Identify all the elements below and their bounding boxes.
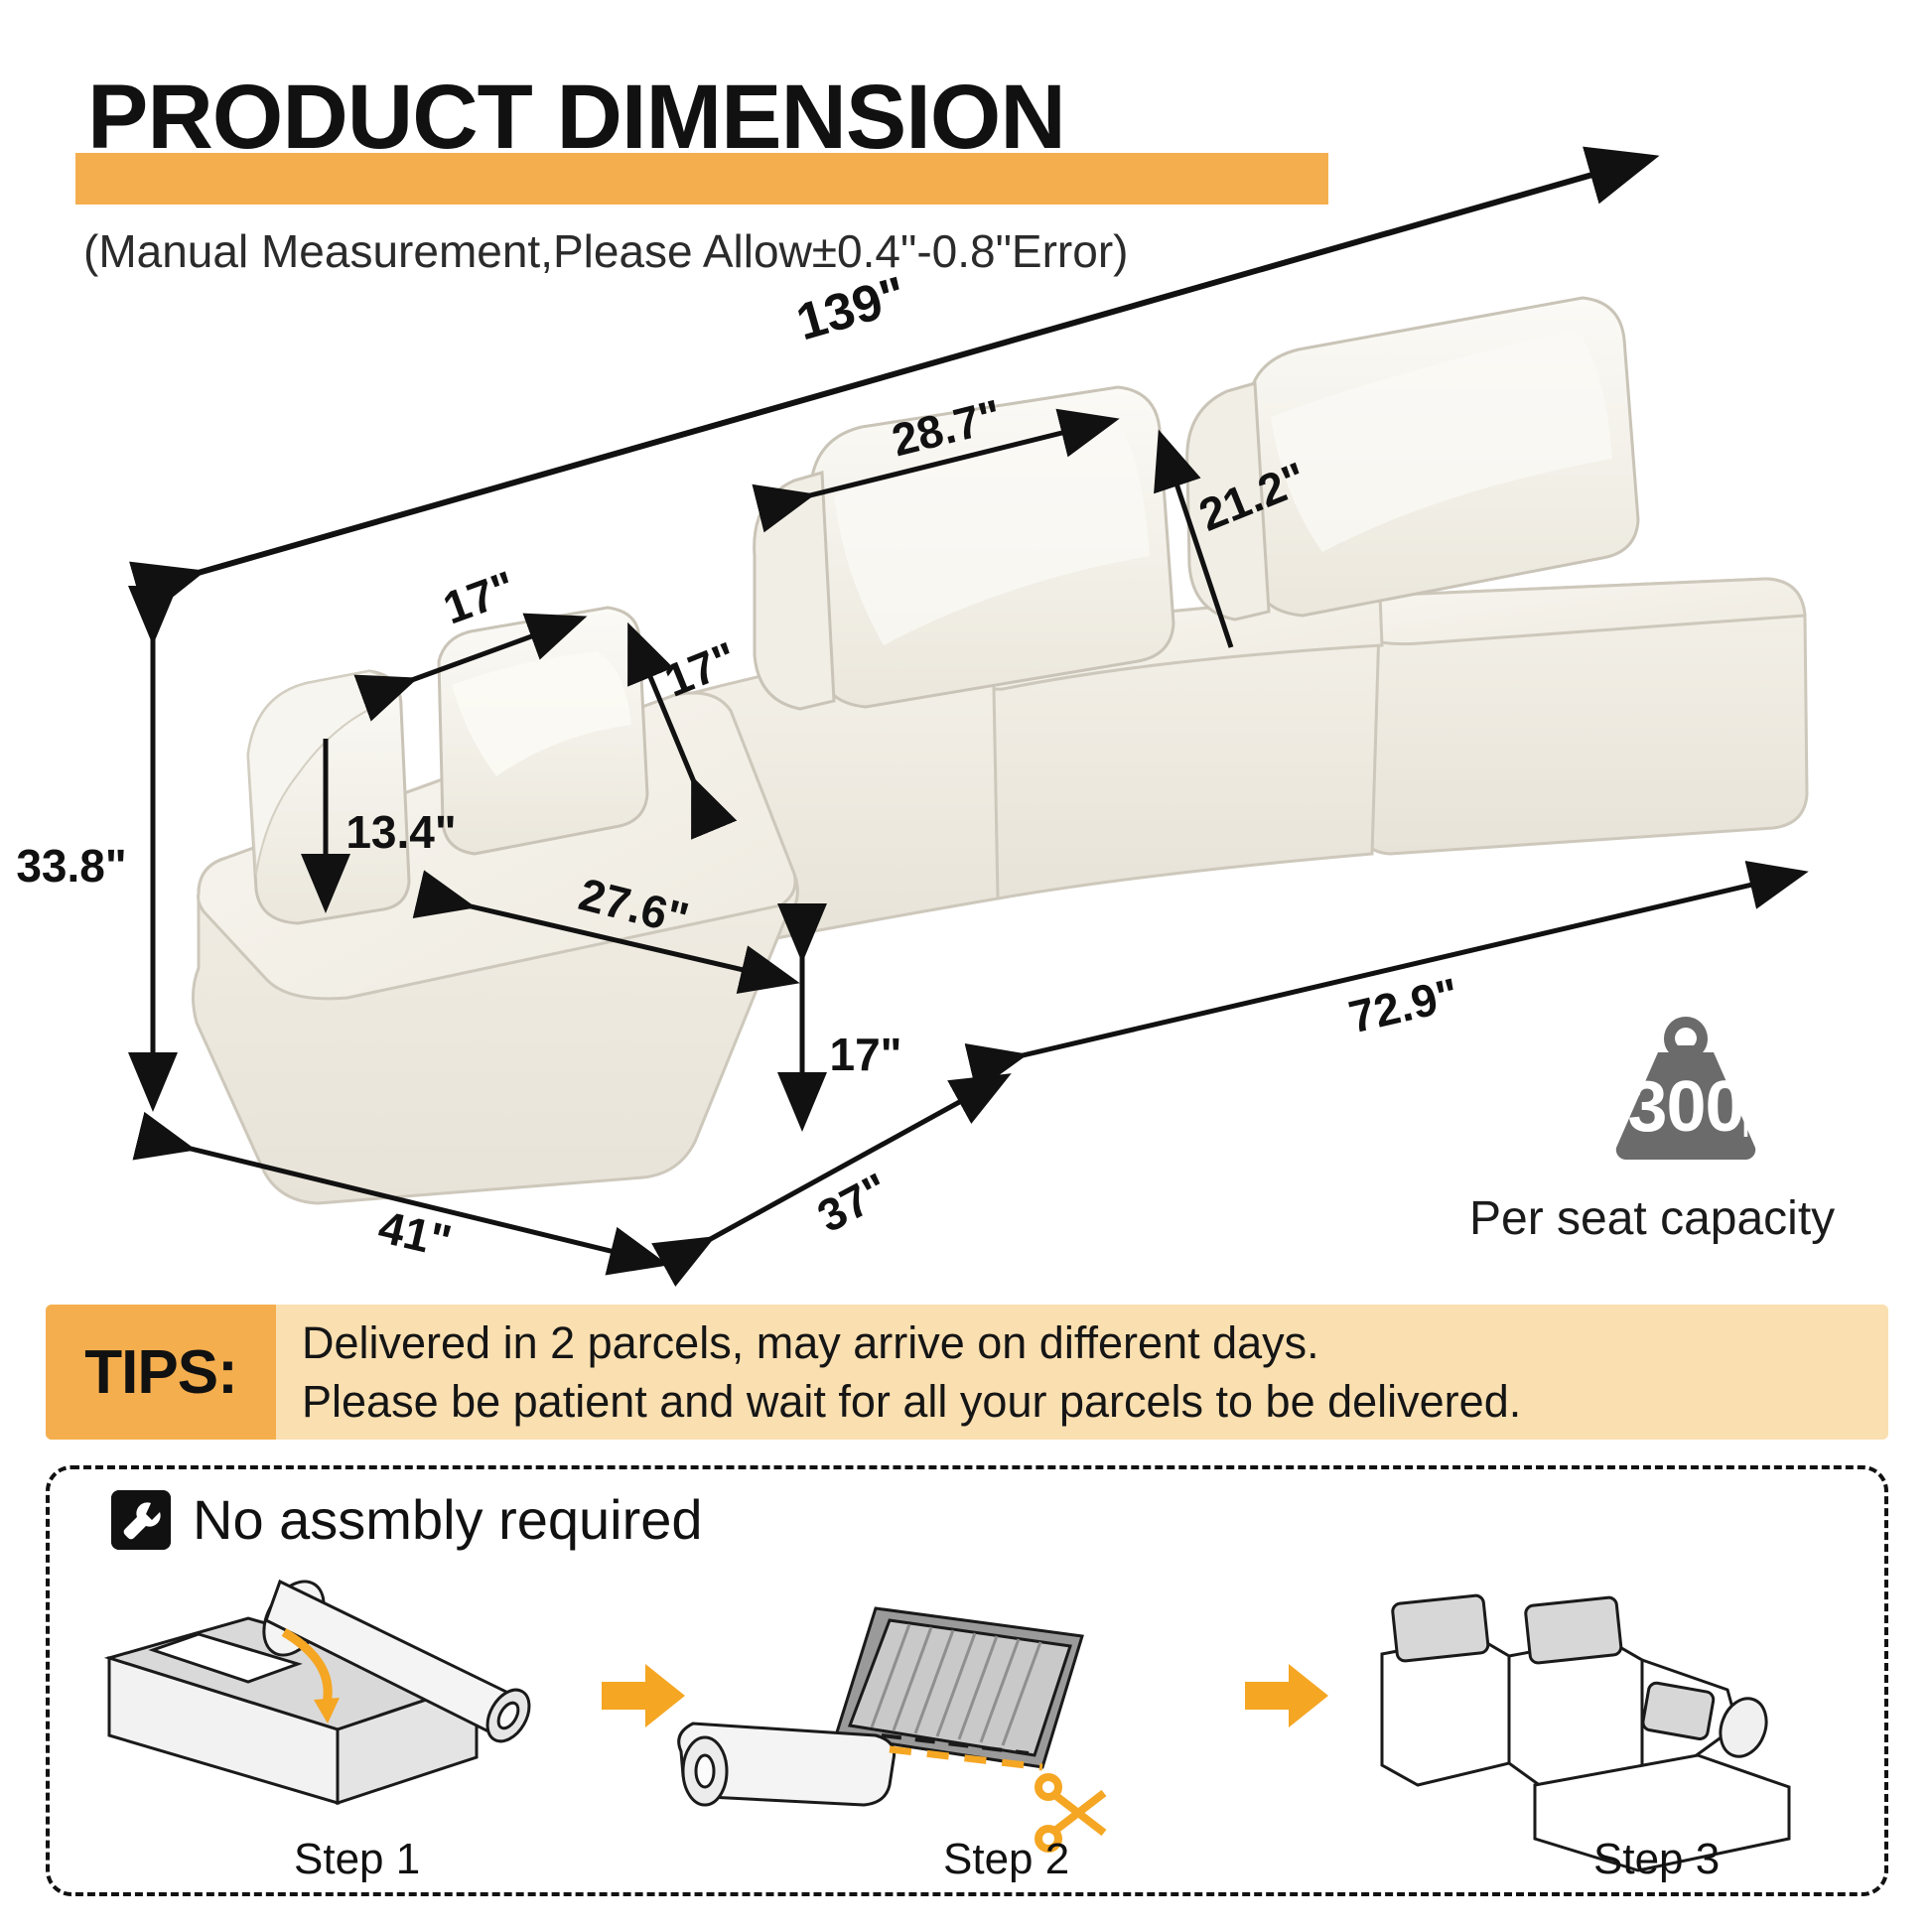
assembly-arrow-2 [1245,1664,1328,1727]
dimension-label-overall-height: 33.8" [16,839,126,893]
step1-box-and-roll-icon [109,1571,538,1803]
step3-assembled-sofa-icon [1382,1594,1789,1870]
step-1-label: Step 1 [294,1835,420,1884]
tips-line-1: Delivered in 2 parcels, may arrive on di… [302,1316,1888,1369]
step-3-label: Step 3 [1593,1835,1720,1884]
step-2-label: Step 2 [943,1835,1069,1884]
tips-body: Delivered in 2 parcels, may arrive on di… [276,1305,1888,1440]
assembly-arrow-1 [602,1664,685,1727]
tips-line-2: Please be patient and wait for all your … [302,1375,1888,1428]
capacity-unit: lb [1742,1113,1765,1144]
assembly-panel: No assmbly required [46,1465,1888,1896]
step2-unroll-and-cut-icon [679,1608,1104,1849]
weight-capacity-badge: 300 lb [1596,1011,1775,1160]
product-dimension-infographic: PRODUCT DIMENSION (Manual Measurement,Pl… [0,0,1932,1932]
tips-label: TIPS: [46,1305,276,1440]
assembly-steps-illustration [50,1469,1886,1896]
capacity-caption: Per seat capacity [1469,1191,1835,1246]
dimension-label-seat-height: 17" [830,1028,902,1081]
dimension-label-pillow-height: 13.4" [345,805,456,859]
tips-banner: TIPS: Delivered in 2 parcels, may arrive… [46,1305,1888,1440]
